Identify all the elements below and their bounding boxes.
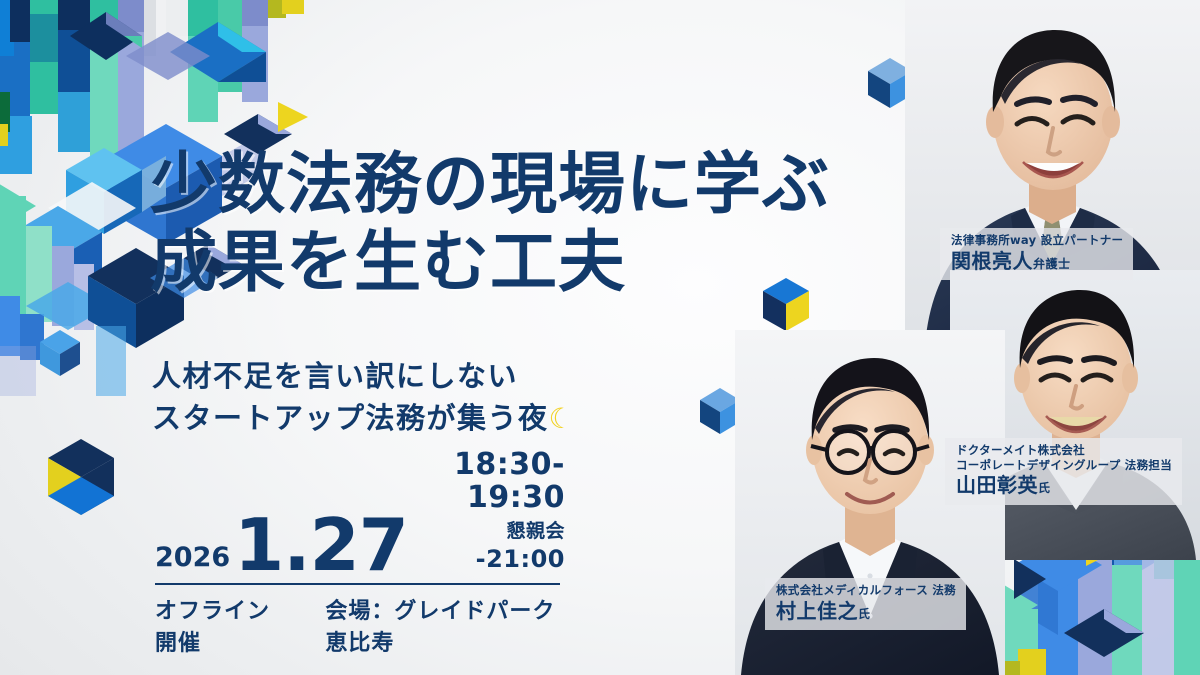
page-subtitle: 人材不足を言い訳にしない スタートアップ法務が集う夜☾: [152, 355, 575, 440]
event-format: オフライン開催: [155, 593, 281, 657]
event-time-column: 18:30-19:30 懇親会 -21:00: [424, 448, 565, 577]
event-date-row: 2026 1.27 18:30-19:30 懇親会 -21:00: [155, 505, 565, 577]
subtitle-line-2: スタートアップ法務が集う夜☾: [152, 397, 575, 440]
event-time-afterparty: 懇親会 -21:00: [424, 514, 565, 574]
page-title: 少数法務の現場に学ぶ 成果を生む工夫: [150, 146, 970, 301]
speaker-org-yamada-1: ドクターメイト株式会社: [956, 443, 1172, 458]
speaker-org-murakami: 株式会社メディカルフォース 法務: [776, 583, 956, 598]
cube-blue-left-icon: [38, 328, 82, 378]
speaker-name-murakami: 村上佳之氏: [776, 599, 956, 625]
event-details: 2026 1.27 18:30-19:30 懇親会 -21:00 オフライン開催…: [155, 505, 565, 657]
speaker-org-sekine: 法律事務所way 設立パートナー: [951, 233, 1123, 248]
speaker-caption-murakami: 株式会社メディカルフォース 法務 村上佳之氏: [765, 578, 966, 630]
subtitle-line-1: 人材不足を言い訳にしない: [152, 355, 575, 397]
event-time-main: 18:30-19:30: [424, 448, 565, 514]
event-venue: 会場：グレイドパーク恵比寿: [325, 593, 560, 657]
event-year: 2026: [155, 544, 230, 577]
title-line-2: 成果を生む工夫: [150, 224, 970, 302]
crescent-moon-icon: ☾: [549, 402, 576, 435]
triangle-yellow-top-icon: [276, 100, 310, 139]
cube-yellow-navy-left-icon: [44, 436, 118, 518]
event-banner: 法律事務所way 設立パートナー 関根亮人弁護士 ドクターメイト株式会社 コーポ…: [0, 0, 1200, 675]
speaker-org-yamada-2: コーポレートデザイングループ 法務担当: [956, 458, 1172, 473]
speaker-name-sekine: 関根亮人弁護士: [951, 249, 1123, 275]
title-line-1: 少数法務の現場に学ぶ: [150, 146, 970, 224]
event-day: 1.27: [234, 515, 408, 577]
speaker-caption-yamada: ドクターメイト株式会社 コーポレートデザイングループ 法務担当 山田彰英氏: [945, 438, 1182, 505]
speaker-name-yamada: 山田彰英氏: [956, 473, 1172, 499]
event-venue-row: オフライン開催 会場：グレイドパーク恵比寿: [155, 593, 560, 657]
